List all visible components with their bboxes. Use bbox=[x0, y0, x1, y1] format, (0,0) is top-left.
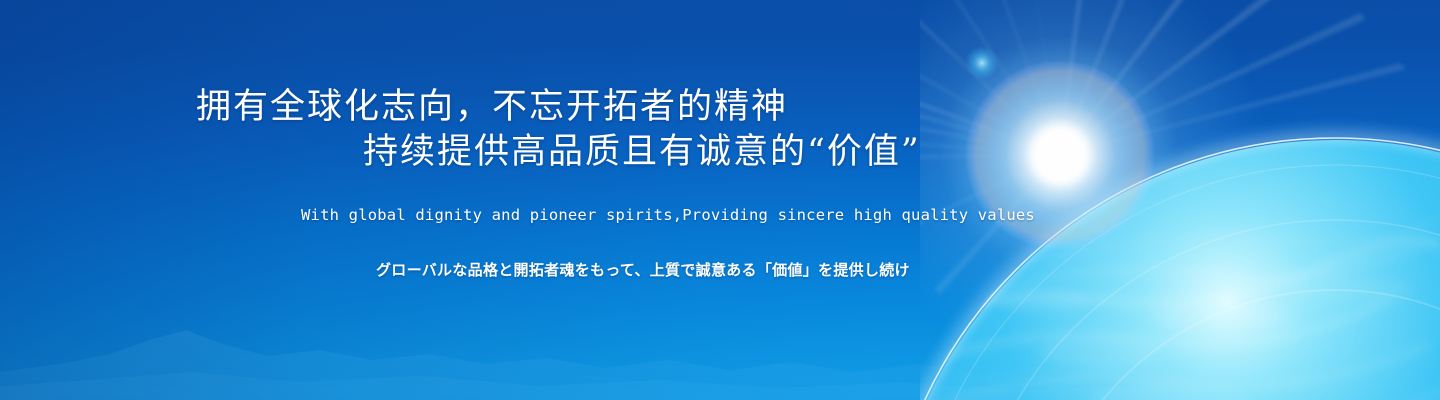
sun-core bbox=[1030, 125, 1090, 185]
subtitle-english: With global dignity and pioneer spirits,… bbox=[301, 206, 1035, 224]
headline-line-1: 拥有全球化志向，不忘开拓者的精神 bbox=[196, 89, 788, 127]
subtitle-japanese: グローバルな品格と開拓者魂をもって、上質で誠意ある「価値」を提供し続け bbox=[376, 259, 910, 280]
corporate-hero-banner: 拥有全球化志向，不忘开拓者的精神 持续提供高品质且有诚意的“价值” With g… bbox=[0, 0, 1440, 400]
headline-line-2: 持续提供高品质且有诚意的“价值” bbox=[363, 134, 921, 172]
banner-copy: 拥有全球化志向，不忘开拓者的精神 持续提供高品质且有诚意的“价值” With g… bbox=[0, 0, 1000, 400]
